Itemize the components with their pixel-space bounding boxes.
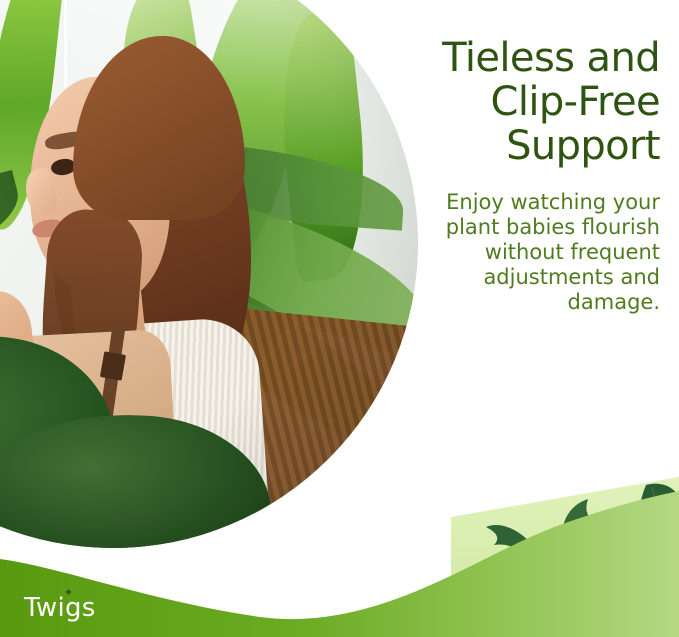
wave-shapes [0, 477, 679, 637]
lifestyle-photo [0, 0, 418, 548]
bottom-wave-band [0, 477, 679, 637]
brand-logo[interactable]: Twigs ✦ [24, 595, 96, 621]
headline-line-1: Tieless and [442, 35, 660, 81]
marketing-banner: Tieless and Clip-Free Support Enjoy watc… [0, 0, 679, 637]
photo-content [0, 0, 418, 548]
headline-line-2: Clip-Free [491, 79, 660, 125]
copy-block: Tieless and Clip-Free Support Enjoy watc… [408, 36, 660, 315]
subcopy-text: Enjoy watching your plant babies flouris… [408, 190, 660, 315]
headline-line-3: Support [506, 123, 660, 169]
brand-name: Twigs [24, 593, 96, 623]
photo-vignette [0, 0, 418, 548]
page-title: Tieless and Clip-Free Support [408, 36, 660, 168]
sprout-icon: ✦ [64, 588, 74, 598]
